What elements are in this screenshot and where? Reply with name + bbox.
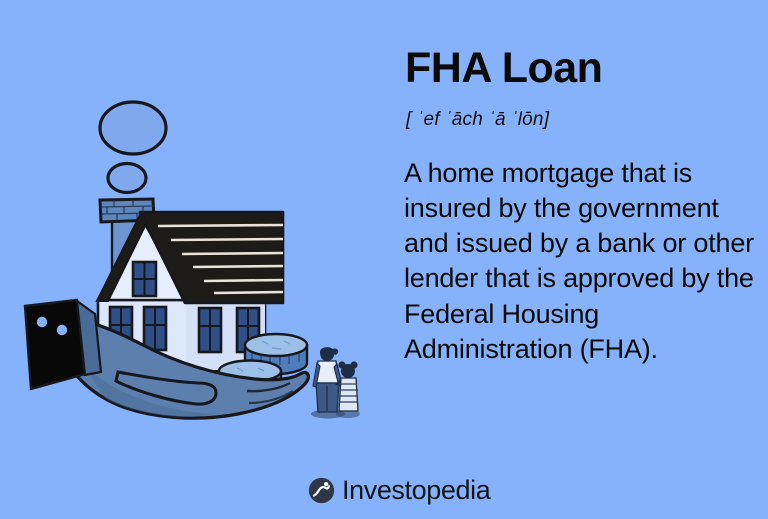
window-front-center — [144, 307, 166, 350]
infographic-card: FHA Loan [ ˈef ˈāch ˈā ˈlōn] A home mort… — [0, 0, 768, 519]
investopedia-logo: Investopedia — [308, 477, 490, 504]
window-attic — [133, 262, 156, 296]
definition-text-column: FHA Loan [ ˈef ˈāch ˈā ˈlōn] A home mort… — [404, 46, 760, 367]
smoke-puff-small-icon — [108, 164, 146, 193]
smoke-puff-large-icon — [100, 102, 166, 154]
illustration-hand-holding-house — [0, 0, 390, 460]
window-side-left — [199, 308, 221, 352]
investopedia-mark-icon — [308, 477, 335, 504]
pronunciation-text: [ ˈef ˈāch ˈā ˈlōn] — [406, 109, 760, 131]
definition-text: A home mortgage that is insured by the g… — [404, 156, 760, 367]
investopedia-wordmark: Investopedia — [342, 477, 490, 504]
child-figure — [336, 361, 360, 418]
page-title: FHA Loan — [405, 46, 760, 91]
